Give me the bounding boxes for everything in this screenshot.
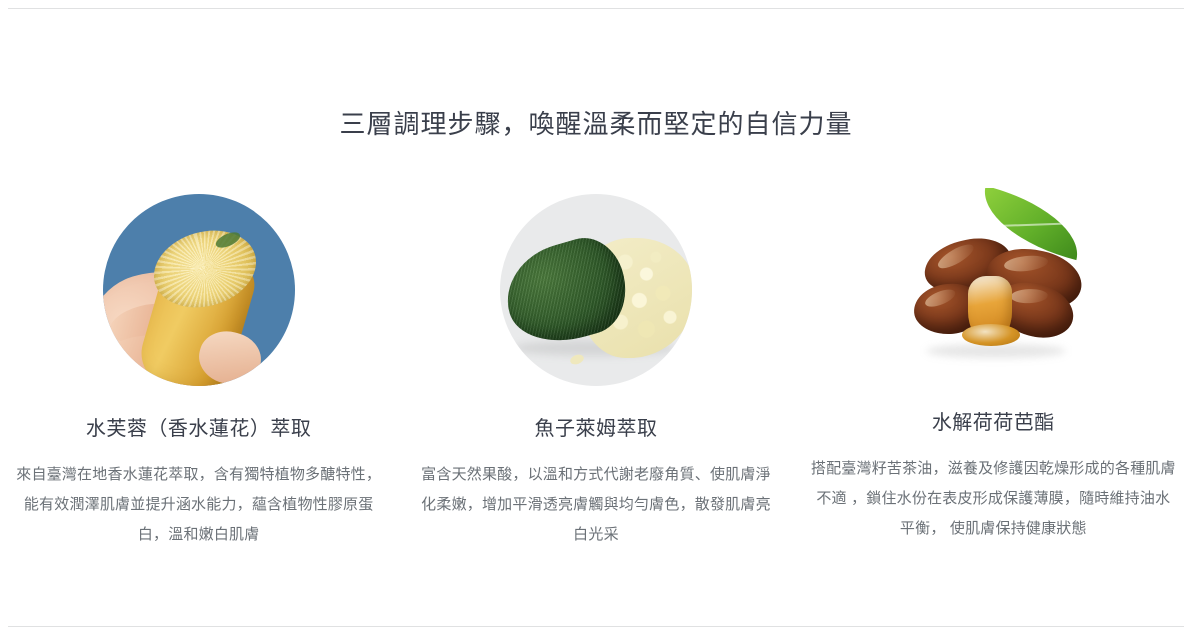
bottom-divider [8,626,1184,627]
ingredient-description: 搭配臺灣籽苦茶油，滋養及修護因乾燥形成的各種肌膚不適 ，鎖住水份在表皮形成保護薄… [809,454,1177,544]
ingredient-columns: 水芙蓉（香水蓮花）萃取 來自臺灣在地香水蓮花萃取，含有獨特植物多醣特性，能有效潤… [0,180,1192,550]
ingredient-title: 水解荷荷芭酯 [932,408,1055,438]
ingredient-title: 魚子萊姆萃取 [534,414,657,444]
jojoba-fruit-photo [890,188,1096,380]
ingredient-description: 富含天然果酸，以溫和方式代謝老廢角質、使肌膚淨化柔嫩，增加平滑透亮膚觸與均勻膚色… [420,460,772,550]
ingredient-card-3: 水解荷荷芭酯 搭配臺灣籽苦茶油，滋養及修護因乾燥形成的各種肌膚不適 ，鎖住水份在… [795,180,1192,544]
lotus-stem-photo [103,194,295,386]
ingredients-section: 三層調理步驟，喚醒溫柔而堅定的自信力量 水芙蓉（香水蓮花）萃取 來自臺灣在地香水… [0,0,1192,635]
section-title: 三層調理步驟，喚醒溫柔而堅定的自信力量 [0,106,1192,144]
ingredient-description: 來自臺灣在地香水蓮花萃取，含有獨特植物多醣特性，能有效潤澤肌膚並提升涵水能力，蘊… [13,460,385,550]
oil-pool-shape [962,324,1020,346]
top-divider [8,8,1184,9]
ingredient-title: 水芙蓉（香水蓮花）萃取 [86,414,312,444]
drop-shadow [926,344,1066,358]
finger-lime-photo [500,194,692,386]
ingredient-card-2: 魚子萊姆萃取 富含天然果酸，以溫和方式代謝老廢角質、使肌膚淨化柔嫩，增加平滑透亮… [397,180,794,550]
ingredient-card-1: 水芙蓉（香水蓮花）萃取 來自臺灣在地香水蓮花萃取，含有獨特植物多醣特性，能有效潤… [0,180,397,550]
